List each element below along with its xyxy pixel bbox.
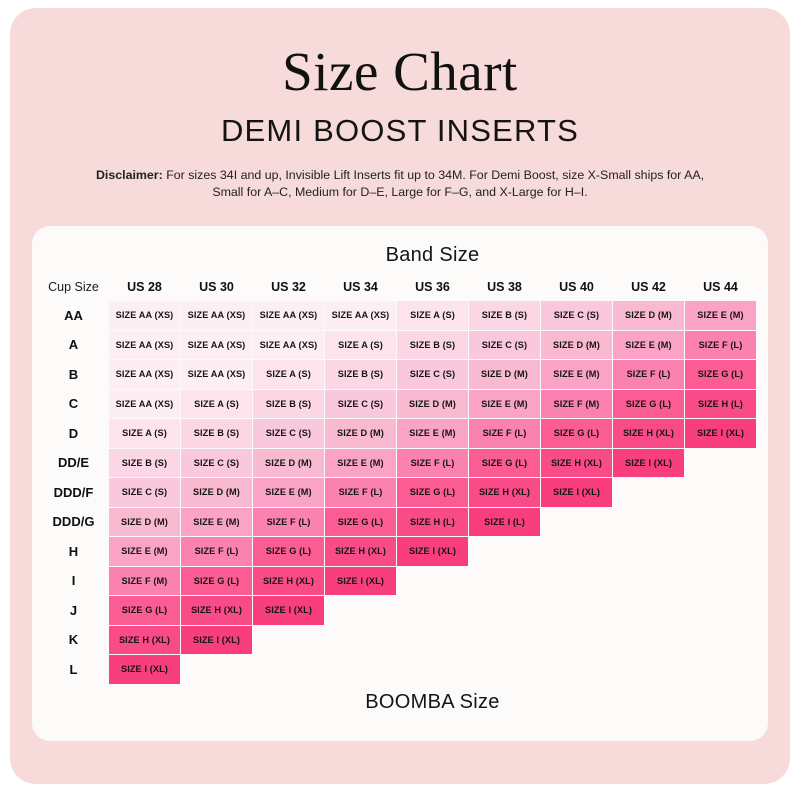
cup-size-label: DDD/G: [39, 508, 108, 537]
table-row: DSIZE A (S)SIZE B (S)SIZE C (S)SIZE D (M…: [39, 419, 756, 448]
size-cell: SIZE H (XL): [325, 537, 396, 566]
size-cell-empty: [541, 567, 612, 596]
table-row: HSIZE E (M)SIZE F (L)SIZE G (L)SIZE H (X…: [39, 537, 756, 566]
cup-size-label: H: [39, 537, 108, 566]
size-cell: SIZE B (S): [469, 301, 540, 330]
size-cell-empty: [685, 626, 756, 655]
size-cell: SIZE F (L): [181, 537, 252, 566]
cup-size-label: K: [39, 626, 108, 655]
size-cell-empty: [469, 567, 540, 596]
size-cell: SIZE C (S): [181, 449, 252, 478]
size-chart-card: Band SizeCup SizeUS 28US 30US 32US 34US …: [32, 226, 768, 741]
size-cell-empty: [541, 537, 612, 566]
size-cell-empty: [469, 626, 540, 655]
size-cell: SIZE C (S): [541, 301, 612, 330]
size-cell: SIZE H (XL): [613, 419, 684, 448]
table-row: DDD/GSIZE D (M)SIZE E (M)SIZE F (L)SIZE …: [39, 508, 756, 537]
size-cell-empty: [325, 626, 396, 655]
size-cell: SIZE AA (XS): [109, 301, 180, 330]
size-cell: SIZE F (M): [541, 390, 612, 419]
size-cell: SIZE H (XL): [253, 567, 324, 596]
size-cell: SIZE C (S): [325, 390, 396, 419]
size-cell: SIZE AA (XS): [253, 301, 324, 330]
size-cell: SIZE I (XL): [397, 537, 468, 566]
size-cell-empty: [685, 567, 756, 596]
size-cell: SIZE G (L): [613, 390, 684, 419]
size-cell-empty: [613, 508, 684, 537]
size-cell-empty: [253, 626, 324, 655]
size-cell: SIZE AA (XS): [325, 301, 396, 330]
cup-size-label: B: [39, 360, 108, 389]
band-size-header-row: Band Size: [39, 238, 756, 272]
size-cell: SIZE I (L): [469, 508, 540, 537]
size-cell: SIZE G (L): [469, 449, 540, 478]
disclaimer-label: Disclaimer:: [96, 168, 163, 182]
size-cell: SIZE D (M): [469, 360, 540, 389]
size-cell: SIZE H (XL): [541, 449, 612, 478]
table-row: ISIZE F (M)SIZE G (L)SIZE H (XL)SIZE I (…: [39, 567, 756, 596]
size-cell: SIZE D (M): [397, 390, 468, 419]
size-cell: SIZE A (S): [397, 301, 468, 330]
disclaimer-text: Disclaimer: For sizes 34I and up, Invisi…: [10, 167, 790, 201]
size-cell: SIZE AA (XS): [109, 331, 180, 360]
size-cell-empty: [469, 537, 540, 566]
footer-blank-cell: [39, 685, 108, 721]
band-size-column-header: US 34: [325, 273, 396, 300]
size-cell: SIZE C (S): [469, 331, 540, 360]
size-cell: SIZE E (M): [181, 508, 252, 537]
size-cell: SIZE E (M): [253, 478, 324, 507]
size-cell: SIZE AA (XS): [181, 301, 252, 330]
size-cell: SIZE H (L): [397, 508, 468, 537]
size-cell: SIZE F (L): [469, 419, 540, 448]
size-cell: SIZE I (XL): [253, 596, 324, 625]
cup-size-label: J: [39, 596, 108, 625]
size-cell-empty: [469, 655, 540, 684]
size-cell: SIZE G (L): [181, 567, 252, 596]
size-cell-empty: [397, 567, 468, 596]
size-cell: SIZE E (M): [541, 360, 612, 389]
chart-header: Size Chart DEMI BOOST INSERTS Disclaimer…: [10, 8, 790, 201]
table-row: CSIZE AA (XS)SIZE A (S)SIZE B (S)SIZE C …: [39, 390, 756, 419]
size-cell: SIZE D (M): [181, 478, 252, 507]
size-cell: SIZE AA (XS): [181, 331, 252, 360]
size-cell-empty: [613, 655, 684, 684]
size-cell: SIZE I (XL): [325, 567, 396, 596]
size-cell: SIZE D (M): [109, 508, 180, 537]
size-cell-empty: [253, 655, 324, 684]
size-cell-empty: [469, 596, 540, 625]
band-size-column-header: US 38: [469, 273, 540, 300]
size-cell: SIZE A (S): [109, 419, 180, 448]
cup-size-label: C: [39, 390, 108, 419]
size-cell-empty: [541, 508, 612, 537]
size-cell: SIZE B (S): [397, 331, 468, 360]
cup-size-label: DD/E: [39, 449, 108, 478]
size-cell-empty: [613, 596, 684, 625]
size-cell-empty: [613, 478, 684, 507]
size-cell: SIZE D (M): [613, 301, 684, 330]
size-cell: SIZE AA (XS): [109, 360, 180, 389]
size-cell: SIZE E (M): [685, 301, 756, 330]
page-subtitle: DEMI BOOST INSERTS: [10, 113, 790, 149]
size-cell: SIZE AA (XS): [253, 331, 324, 360]
band-size-column-header: US 28: [109, 273, 180, 300]
size-cell-empty: [325, 655, 396, 684]
size-cell: SIZE A (S): [253, 360, 324, 389]
size-cell: SIZE F (M): [109, 567, 180, 596]
band-size-column-header: US 40: [541, 273, 612, 300]
size-cell: SIZE A (S): [325, 331, 396, 360]
size-cell: SIZE H (XL): [469, 478, 540, 507]
page-background-panel: Size Chart DEMI BOOST INSERTS Disclaimer…: [10, 8, 790, 784]
size-cell: SIZE E (M): [613, 331, 684, 360]
size-cell: SIZE A (S): [181, 390, 252, 419]
table-row: DDD/FSIZE C (S)SIZE D (M)SIZE E (M)SIZE …: [39, 478, 756, 507]
size-cell: SIZE C (S): [397, 360, 468, 389]
size-cell: SIZE C (S): [253, 419, 324, 448]
cup-size-label: D: [39, 419, 108, 448]
size-cell: SIZE F (L): [685, 331, 756, 360]
cup-size-label: A: [39, 331, 108, 360]
cup-size-label: L: [39, 655, 108, 684]
size-cell-empty: [541, 596, 612, 625]
size-cell-empty: [613, 626, 684, 655]
size-cell: SIZE I (XL): [181, 626, 252, 655]
cup-size-header: Cup Size: [39, 273, 108, 300]
size-cell-empty: [541, 626, 612, 655]
size-cell-empty: [685, 449, 756, 478]
size-cell-empty: [685, 655, 756, 684]
band-size-column-header: US 44: [685, 273, 756, 300]
band-size-column-header: US 36: [397, 273, 468, 300]
size-cell: SIZE D (M): [541, 331, 612, 360]
band-size-column-header: US 30: [181, 273, 252, 300]
size-cell: SIZE D (M): [253, 449, 324, 478]
size-cell-empty: [541, 655, 612, 684]
size-cell-empty: [181, 655, 252, 684]
size-cell: SIZE D (M): [325, 419, 396, 448]
size-cell: SIZE F (L): [397, 449, 468, 478]
table-row: KSIZE H (XL)SIZE I (XL): [39, 626, 756, 655]
band-size-header: Band Size: [109, 238, 756, 272]
size-cell-empty: [685, 478, 756, 507]
table-row: DD/ESIZE B (S)SIZE C (S)SIZE D (M)SIZE E…: [39, 449, 756, 478]
table-row: ASIZE AA (XS)SIZE AA (XS)SIZE AA (XS)SIZ…: [39, 331, 756, 360]
page-title: Size Chart: [10, 44, 790, 99]
size-cell-empty: [613, 567, 684, 596]
cup-size-label: I: [39, 567, 108, 596]
boomba-footer-row: BOOMBA Size: [39, 685, 756, 721]
size-cell: SIZE F (L): [613, 360, 684, 389]
table-row: JSIZE G (L)SIZE H (XL)SIZE I (XL): [39, 596, 756, 625]
column-header-row: Cup SizeUS 28US 30US 32US 34US 36US 38US…: [39, 273, 756, 300]
table-row: LSIZE I (XL): [39, 655, 756, 684]
table-row: BSIZE AA (XS)SIZE AA (XS)SIZE A (S)SIZE …: [39, 360, 756, 389]
size-cell: SIZE G (L): [685, 360, 756, 389]
cup-size-label: AA: [39, 301, 108, 330]
size-cell: SIZE G (L): [253, 537, 324, 566]
size-cell: SIZE AA (XS): [109, 390, 180, 419]
disclaimer-body: For sizes 34I and up, Invisible Lift Ins…: [163, 168, 704, 199]
size-cell: SIZE E (M): [469, 390, 540, 419]
size-cell: SIZE I (XL): [541, 478, 612, 507]
cup-size-label: DDD/F: [39, 478, 108, 507]
size-cell: SIZE F (L): [325, 478, 396, 507]
size-cell: SIZE G (L): [541, 419, 612, 448]
size-cell: SIZE G (L): [397, 478, 468, 507]
corner-blank-cell: [39, 238, 108, 272]
size-cell: SIZE F (L): [253, 508, 324, 537]
size-cell: SIZE E (M): [397, 419, 468, 448]
size-cell-empty: [685, 508, 756, 537]
band-size-column-header: US 42: [613, 273, 684, 300]
size-cell: SIZE I (XL): [685, 419, 756, 448]
size-cell-empty: [397, 626, 468, 655]
size-cell: SIZE G (L): [109, 596, 180, 625]
size-cell: SIZE H (L): [685, 390, 756, 419]
size-cell: SIZE H (XL): [181, 596, 252, 625]
size-cell-empty: [685, 596, 756, 625]
size-cell: SIZE G (L): [325, 508, 396, 537]
size-cell: SIZE B (S): [181, 419, 252, 448]
size-cell: SIZE B (S): [253, 390, 324, 419]
boomba-size-footer: BOOMBA Size: [109, 685, 756, 721]
size-cell-empty: [397, 596, 468, 625]
size-cell: SIZE I (XL): [109, 655, 180, 684]
size-cell: SIZE I (XL): [613, 449, 684, 478]
size-cell: SIZE B (S): [325, 360, 396, 389]
size-chart-table: Band SizeCup SizeUS 28US 30US 32US 34US …: [38, 237, 757, 722]
size-cell-empty: [613, 537, 684, 566]
size-cell-empty: [685, 537, 756, 566]
size-cell: SIZE E (M): [325, 449, 396, 478]
size-cell: SIZE H (XL): [109, 626, 180, 655]
size-cell: SIZE C (S): [109, 478, 180, 507]
size-cell: SIZE AA (XS): [181, 360, 252, 389]
size-cell-empty: [325, 596, 396, 625]
size-cell: SIZE B (S): [109, 449, 180, 478]
size-cell: SIZE E (M): [109, 537, 180, 566]
table-row: AASIZE AA (XS)SIZE AA (XS)SIZE AA (XS)SI…: [39, 301, 756, 330]
band-size-column-header: US 32: [253, 273, 324, 300]
size-cell-empty: [397, 655, 468, 684]
